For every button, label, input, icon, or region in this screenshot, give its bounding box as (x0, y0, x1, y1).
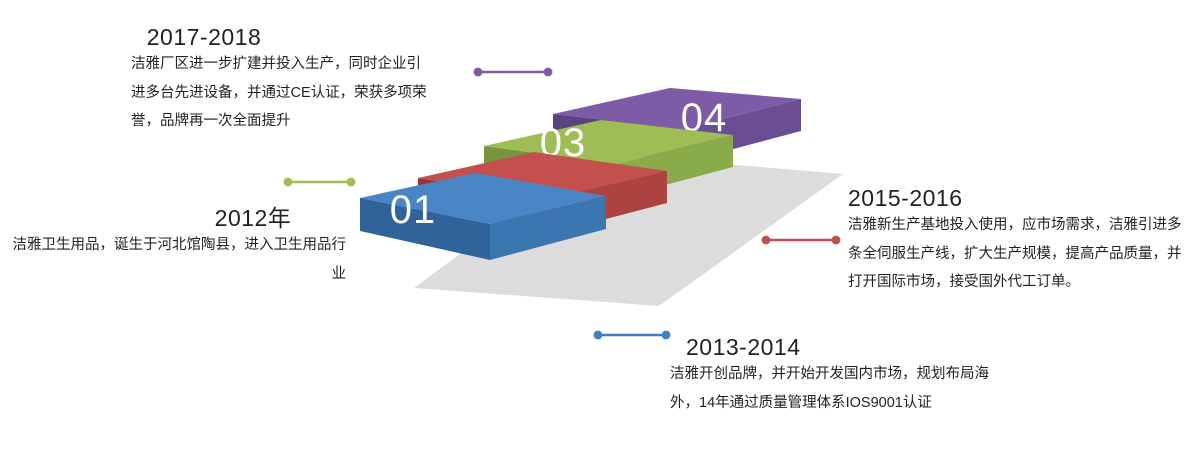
milestone-2015-description: 洁雅新生产基地投入使用，应市场需求，洁雅引进多条全伺服生产线，扩大生产规模，提高… (848, 211, 1188, 296)
milestone-2015-2016[interactable]: 2015-2016 洁雅新生产基地投入使用，应市场需求，洁雅引进多条全伺服生产线… (848, 186, 1188, 296)
milestone-2013-description: 洁雅开创品牌，并开始开发国内市场，规划布局海外，14年通过质量管理体系IOS90… (670, 360, 1000, 417)
infographic-canvas: 04 03 02 01 (0, 0, 1200, 463)
milestone-2013-year: 2013-2014 (670, 335, 1000, 360)
milestone-2017-description: 洁雅厂区进一步扩建并投入生产，同时企业引进多台先进设备，并通过CE认证，荣获多项… (0, 50, 430, 135)
milestone-2012-description: 洁雅卫生用品，诞生于河北馆陶县，进入卫生用品行业 (0, 231, 346, 288)
milestone-2012[interactable]: 2012年 洁雅卫生用品，诞生于河北馆陶县，进入卫生用品行业 (0, 206, 346, 288)
connector-purple (474, 68, 553, 77)
milestone-2013-2014[interactable]: 2013-2014 洁雅开创品牌，并开始开发国内市场，规划布局海外，14年通过质… (670, 335, 1000, 417)
milestone-2017-year: 2017-2018 (0, 25, 430, 50)
milestone-2015-year: 2015-2016 (848, 186, 1188, 211)
connector-blue (594, 331, 671, 340)
milestone-2012-year: 2012年 (0, 206, 346, 231)
milestone-2017-2018[interactable]: 2017-2018 洁雅厂区进一步扩建并投入生产，同时企业引进多台先进设备，并通… (0, 25, 430, 135)
connector-green (284, 178, 356, 187)
connector-red (762, 236, 841, 245)
block-01-number: 01 (390, 188, 437, 232)
